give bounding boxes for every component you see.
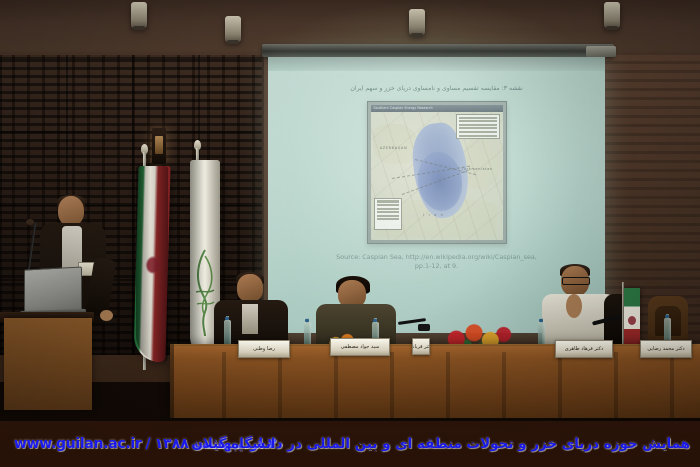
map-depth-scale: [374, 198, 402, 230]
nameplate-1: رضا وطنی: [238, 340, 290, 358]
iran-flag-shading: [136, 166, 168, 362]
map-label-azerbaijan: AZERBAIJAN: [380, 146, 408, 150]
panelist-hand: [566, 294, 582, 318]
banner-separator: /: [146, 436, 151, 452]
nameplate-1-text: رضا وطنی: [253, 346, 275, 352]
map-scale-swatch: [377, 204, 399, 206]
ceiling-downlight-icon: [409, 9, 425, 35]
map-scale-swatch: [377, 208, 399, 210]
map-legend: [456, 114, 500, 139]
map-scale-swatch: [377, 200, 399, 202]
map-legend-swatch: [459, 135, 497, 137]
map-label-iran: I r a n: [423, 213, 444, 217]
nameplate-3-text: دکتر قربانی: [412, 344, 430, 350]
water-bottle: [224, 320, 231, 346]
podium: [4, 318, 92, 410]
nameplate-5: دکتر محمد رضایی: [640, 340, 692, 358]
panelist-head: [237, 274, 263, 302]
nameplate-4: دکتر فرهاد طاهری: [555, 340, 613, 358]
water-bottle-cap: [225, 317, 229, 320]
speaker-hand: [100, 310, 113, 321]
banner-event-title: همایش حوزه دریای خزر و تحولات منطقه ای و…: [191, 436, 690, 452]
panelist-eyeglasses-icon: [562, 277, 590, 285]
map-label-turkmenistan: Turkmenistan: [462, 167, 493, 171]
water-bottle-cap: [373, 319, 377, 322]
water-bottle-cap: [665, 315, 669, 318]
map-legend-swatch: [459, 120, 497, 122]
water-bottle-cap: [539, 319, 543, 322]
ceiling-downlight-icon: [604, 2, 620, 28]
banner-website-url[interactable]: www.guilan.ac.ir: [14, 436, 142, 452]
nameplate-4-text: دکتر فرهاد طاهری: [565, 346, 603, 352]
panelist-shirt: [242, 304, 258, 334]
map-scale-swatch: [377, 218, 399, 220]
panel-table-left-edge: [170, 344, 174, 418]
conference-photo: نقشه ۳: مقایسه تقسیم مساوی و نامساوی دری…: [0, 0, 700, 467]
wall-sconce-icon: [152, 128, 166, 164]
projection-screen-housing-cap: [586, 46, 616, 57]
panel-table-skirt: [170, 352, 700, 418]
water-bottle-cap: [305, 319, 309, 322]
table-microphone-base: [418, 324, 430, 331]
bottom-banner: www.guilan.ac.ir / ۳۰ اردیبهشت ۱۳۸۸ همای…: [0, 421, 700, 467]
map-legend-swatch: [459, 131, 497, 133]
projection-screen-housing: [262, 44, 614, 57]
caspian-sea-map: Southern Caspian Energy Research: [371, 105, 503, 240]
map-scale-swatch: [377, 215, 399, 217]
map-legend-swatch: [459, 117, 497, 119]
slide-title: نقشه ۳: مقایسه تقسیم مساوی و نامساوی دری…: [274, 84, 599, 93]
podium-microphone-icon: [26, 219, 34, 225]
ceiling-downlight-icon: [225, 16, 241, 42]
ceiling-downlight-icon: [131, 2, 147, 28]
slide-map-frame: Southern Caspian Energy Research: [367, 101, 507, 244]
iran-desk-flag: [624, 288, 640, 350]
map-legend-swatch: [459, 124, 497, 126]
nameplate-2: سید جواد مصطفی: [330, 338, 390, 356]
projection-screen-top-strip: [268, 57, 605, 71]
nameplate-5-text: دکتر محمد رضایی: [647, 346, 684, 352]
map-legend-swatch: [459, 127, 497, 129]
map-scale-swatch: [377, 211, 399, 213]
speaker-head: [58, 196, 84, 226]
nameplate-3: دکتر قربانی: [412, 338, 430, 355]
slide-source-line1: Source: Caspian Sea, http://en.wikipedia…: [274, 253, 599, 262]
nameplate-2-text: سید جواد مصطفی: [341, 344, 380, 350]
